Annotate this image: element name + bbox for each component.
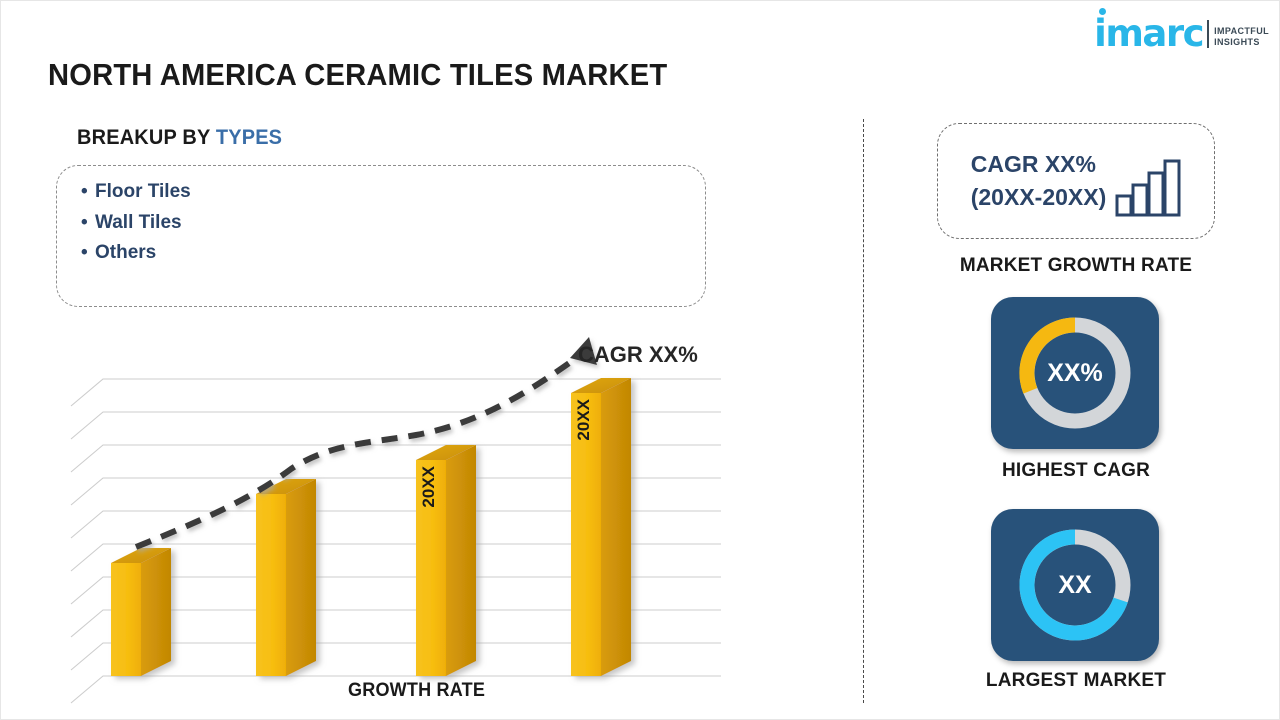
highest-cagr-donut-chart [1010, 308, 1140, 438]
donut-arc [1027, 325, 1075, 391]
imarc-logo: imarc IMPACTFUL INSIGHTS [1094, 11, 1269, 51]
list-item-label: Floor Tiles [95, 181, 191, 202]
bullet-icon: • [81, 177, 95, 208]
breakup-types-box: •Floor Tiles •Wall Tiles •Others [56, 165, 706, 307]
page-title: NORTH AMERICA CERAMIC TILES MARKET [48, 57, 667, 93]
bar-2 [256, 479, 316, 676]
largest-market-caption: LARGEST MARKET [937, 670, 1215, 692]
logo-wordmark: imarc [1094, 17, 1203, 51]
market-growth-rate-box: CAGR XX% (20XX-20XX) [937, 123, 1215, 239]
bar-4-value-label: 20XX [574, 398, 593, 440]
chart-svg: 20XX 20XX [41, 331, 761, 711]
chart-x-axis-label: GROWTH RATE [348, 680, 485, 702]
section-divider [863, 119, 864, 703]
highest-cagr-tile: XX% [991, 297, 1159, 449]
list-item: •Others [81, 238, 191, 269]
list-item: •Wall Tiles [81, 208, 191, 239]
list-item: •Floor Tiles [81, 177, 191, 208]
bullet-icon: • [81, 238, 95, 269]
cagr-trend-annotation: CAGR XX% [578, 342, 698, 368]
subtitle-highlight: TYPES [216, 126, 282, 149]
logo-divider [1207, 20, 1209, 48]
cagr-line-1: CAGR XX% [971, 148, 1107, 181]
cagr-trend-line [136, 337, 597, 547]
logo-tagline-line1: IMPACTFUL [1214, 26, 1269, 37]
list-item-label: Wall Tiles [95, 212, 182, 233]
largest-market-donut-chart [1010, 520, 1140, 650]
cagr-line-2: (20XX-20XX) [971, 181, 1107, 214]
breakup-list: •Floor Tiles •Wall Tiles •Others [81, 177, 191, 269]
bar-chart-icon [1115, 159, 1181, 217]
logo-tagline: IMPACTFUL INSIGHTS [1214, 26, 1269, 51]
logo-tagline-line2: INSIGHTS [1214, 37, 1269, 48]
bar-3-value-label: 20XX [419, 465, 438, 507]
bullet-icon: • [81, 208, 95, 239]
section-subtitle: BREAKUP BY TYPES [77, 126, 282, 150]
largest-market-tile: XX [991, 509, 1159, 661]
cagr-text: CAGR XX% (20XX-20XX) [971, 148, 1107, 214]
infographic-page: imarc IMPACTFUL INSIGHTS NORTH AMERICA C… [0, 0, 1280, 720]
subtitle-prefix: BREAKUP BY [77, 126, 216, 149]
bar-1 [111, 548, 171, 676]
list-item-label: Others [95, 242, 156, 263]
growth-rate-bar-chart: 20XX 20XX [41, 331, 761, 711]
logo-wordmark-text: imarc [1094, 12, 1203, 55]
market-growth-rate-caption: MARKET GROWTH RATE [937, 255, 1215, 277]
highest-cagr-caption: HIGHEST CAGR [937, 460, 1215, 482]
